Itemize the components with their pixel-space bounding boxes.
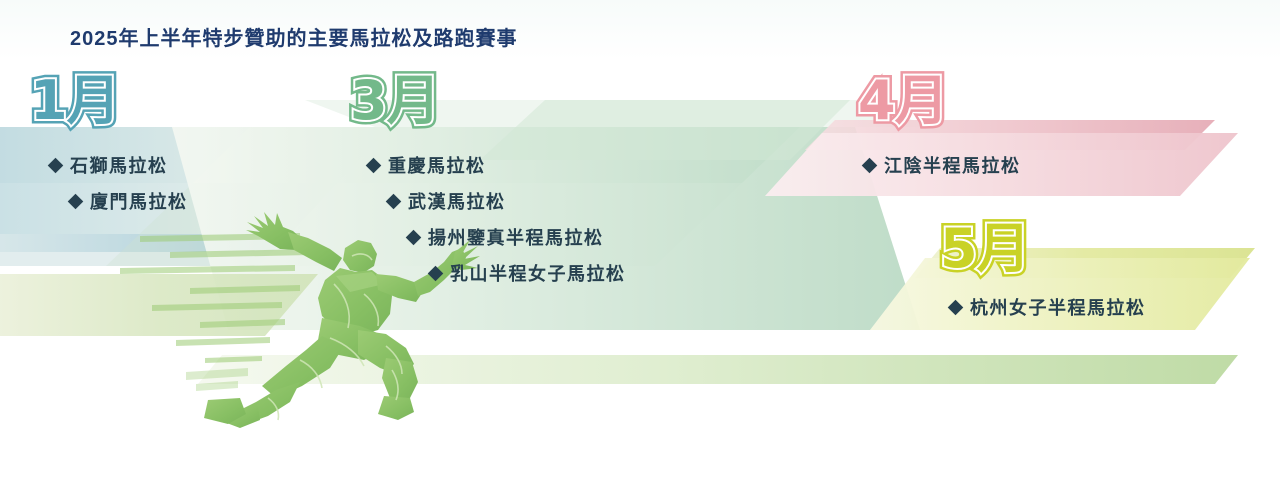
event-label: 杭州女子半程馬拉松 xyxy=(970,294,1146,320)
diamond-icon xyxy=(68,193,84,209)
event-label: 乳山半程女子馬拉松 xyxy=(450,260,626,286)
diamond-icon xyxy=(366,157,382,173)
infographic-canvas: 2025年上半年特步贊助的主要馬拉松及路跑賽事 1月 1月 1月 1月 3月 3… xyxy=(0,0,1280,480)
event-item: 武漢馬拉松 xyxy=(388,188,506,214)
diamond-icon xyxy=(48,157,64,173)
month-label-january: 1月 1月 1月 1月 xyxy=(30,74,120,128)
month-label-march-text-fill: 3月 xyxy=(350,74,440,128)
event-item: 重慶馬拉松 xyxy=(368,152,486,178)
event-label: 江陰半程馬拉松 xyxy=(884,152,1021,178)
diamond-icon xyxy=(406,229,422,245)
month-label-april: 4月 4月 4月 4月 xyxy=(858,74,948,128)
event-item: 揚州鑒真半程馬拉松 xyxy=(408,224,604,250)
event-label: 重慶馬拉松 xyxy=(388,152,486,178)
diamond-icon xyxy=(862,157,878,173)
event-item: 廈門馬拉松 xyxy=(70,188,188,214)
event-item: 江陰半程馬拉松 xyxy=(864,152,1021,178)
month-label-april-text-fill: 4月 xyxy=(858,74,948,128)
background-bands xyxy=(0,0,1280,480)
month-label-march: 3月 3月 3月 3月 xyxy=(350,74,440,128)
event-label: 武漢馬拉松 xyxy=(408,188,506,214)
diamond-icon xyxy=(386,193,402,209)
month-label-may-text-fill: 5月 xyxy=(940,222,1030,276)
diamond-icon xyxy=(948,299,964,315)
page-title: 2025年上半年特步贊助的主要馬拉松及路跑賽事 xyxy=(70,22,518,51)
diamond-icon xyxy=(428,265,444,281)
event-label: 廈門馬拉松 xyxy=(90,188,188,214)
month-label-may: 5月 5月 5月 5月 xyxy=(940,222,1030,276)
event-item: 石獅馬拉松 xyxy=(50,152,168,178)
event-label: 揚州鑒真半程馬拉松 xyxy=(428,224,604,250)
event-item: 杭州女子半程馬拉松 xyxy=(950,294,1146,320)
month-label-january-text-fill: 1月 xyxy=(30,74,120,128)
event-item: 乳山半程女子馬拉松 xyxy=(430,260,626,286)
event-label: 石獅馬拉松 xyxy=(70,152,168,178)
